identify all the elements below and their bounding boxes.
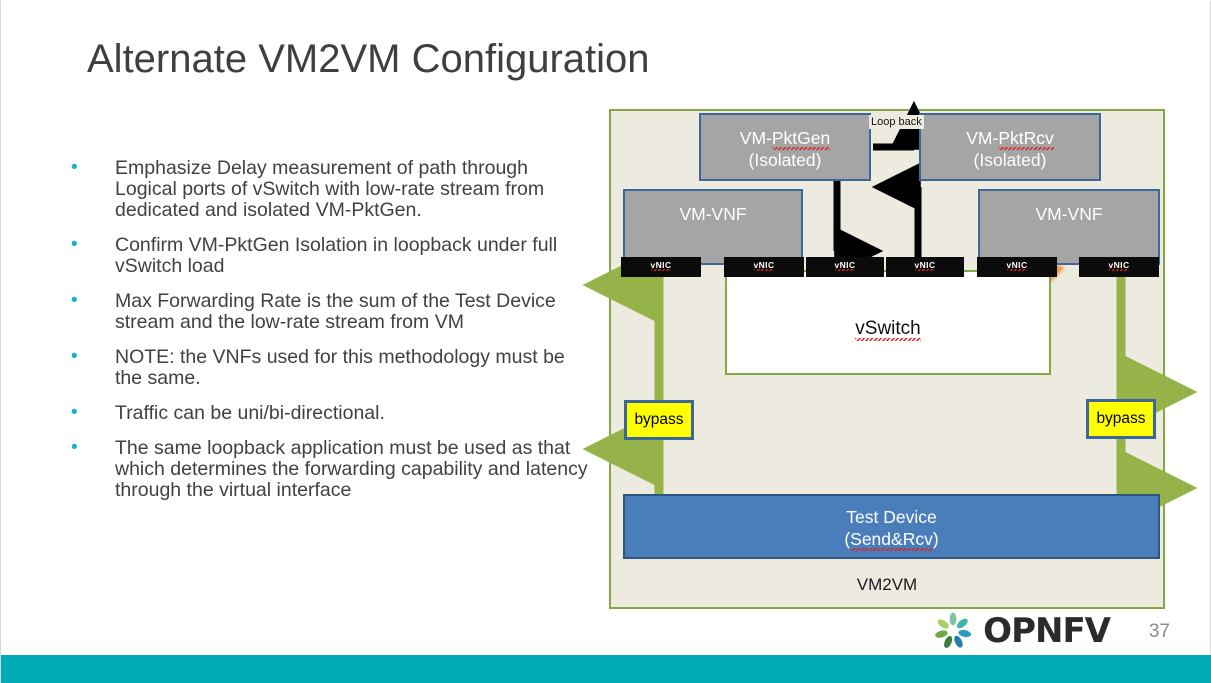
vswitch-label: vSwitch (727, 318, 1049, 340)
test-device-box[interactable]: Test Device (Send&Rcv) (623, 494, 1160, 559)
list-item-label: Max Forwarding Rate is the sum of the Te… (115, 291, 593, 333)
page-number: 37 (1149, 621, 1170, 643)
list-item: • Confirm VM-PktGen Isolation in loopbac… (63, 235, 593, 277)
vm-pktgen-box[interactable]: VM-PktGen (Isolated) (699, 113, 871, 181)
vnic-port-6[interactable]: vNIC (1079, 257, 1159, 277)
footer-accent-bar (1, 655, 1211, 683)
slide-canvas: Alternate VM2VM Configuration • Emphasiz… (0, 0, 1211, 683)
list-item-label: Traffic can be uni/bi-directional. (115, 403, 593, 424)
list-item: • Emphasize Delay measurement of path th… (63, 158, 593, 221)
bypass-right-box[interactable]: bypass (1086, 399, 1156, 439)
list-item: • Traffic can be uni/bi-directional. (63, 403, 593, 424)
vm2vm-diagram: vSwitch VM-PktGen (Isolated) VM-PktRcv (… (609, 109, 1165, 609)
vm-pktrcv-title: VM-PktRcv (921, 127, 1099, 149)
opnfv-logo: OPNFV (932, 611, 1110, 651)
diagram-outer-label: VM2VM (611, 575, 1163, 595)
vm-vnf-left-box[interactable]: VM-VNF (623, 189, 803, 265)
opnfv-wordmark: OPNFV (983, 611, 1110, 651)
vm-pktgen-subtitle: (Isolated) (701, 149, 869, 171)
vnic-port-3[interactable]: vNIC (806, 257, 884, 277)
list-item-label: The same loopback application must be us… (115, 438, 593, 501)
page-title: Alternate VM2VM Configuration (87, 37, 650, 82)
test-device-title: Test Device (625, 506, 1158, 528)
opnfv-burst-icon (932, 612, 976, 650)
list-item: • Max Forwarding Rate is the sum of the … (63, 291, 593, 333)
vm-vnf-right-box[interactable]: VM-VNF (978, 189, 1160, 265)
bullet-marker-icon: • (63, 235, 115, 255)
list-item-label: NOTE: the VNFs used for this methodology… (115, 347, 593, 389)
vnic-port-4[interactable]: vNIC (886, 257, 964, 277)
vnic-port-5[interactable]: vNIC (977, 257, 1057, 277)
bullet-marker-icon: • (63, 291, 115, 311)
bullet-list: • Emphasize Delay measurement of path th… (63, 158, 593, 515)
bullet-marker-icon: • (63, 403, 115, 423)
vm-pktrcv-subtitle: (Isolated) (921, 149, 1099, 171)
vm-vnf-left-label: VM-VNF (625, 203, 801, 225)
vswitch-panel: vSwitch (725, 270, 1051, 375)
vm-vnf-right-label: VM-VNF (980, 203, 1158, 225)
vnic-port-1[interactable]: vNIC (621, 257, 701, 277)
bullet-marker-icon: • (63, 347, 115, 367)
bullet-marker-icon: • (63, 438, 115, 458)
list-item: • NOTE: the VNFs used for this methodolo… (63, 347, 593, 389)
test-device-subtitle: (Send&Rcv) (625, 528, 1158, 550)
vm-pktrcv-box[interactable]: VM-PktRcv (Isolated) (919, 113, 1101, 181)
bullet-marker-icon: • (63, 158, 115, 178)
list-item-label: Emphasize Delay measurement of path thro… (115, 158, 593, 221)
list-item: • The same loopback application must be … (63, 438, 593, 501)
loop-back-label: Loop back (869, 115, 924, 129)
list-item-label: Confirm VM-PktGen Isolation in loopback … (115, 235, 593, 277)
vnic-port-2[interactable]: vNIC (724, 257, 804, 277)
bypass-left-box[interactable]: bypass (624, 400, 694, 440)
vm-pktgen-title: VM-PktGen (701, 127, 869, 149)
